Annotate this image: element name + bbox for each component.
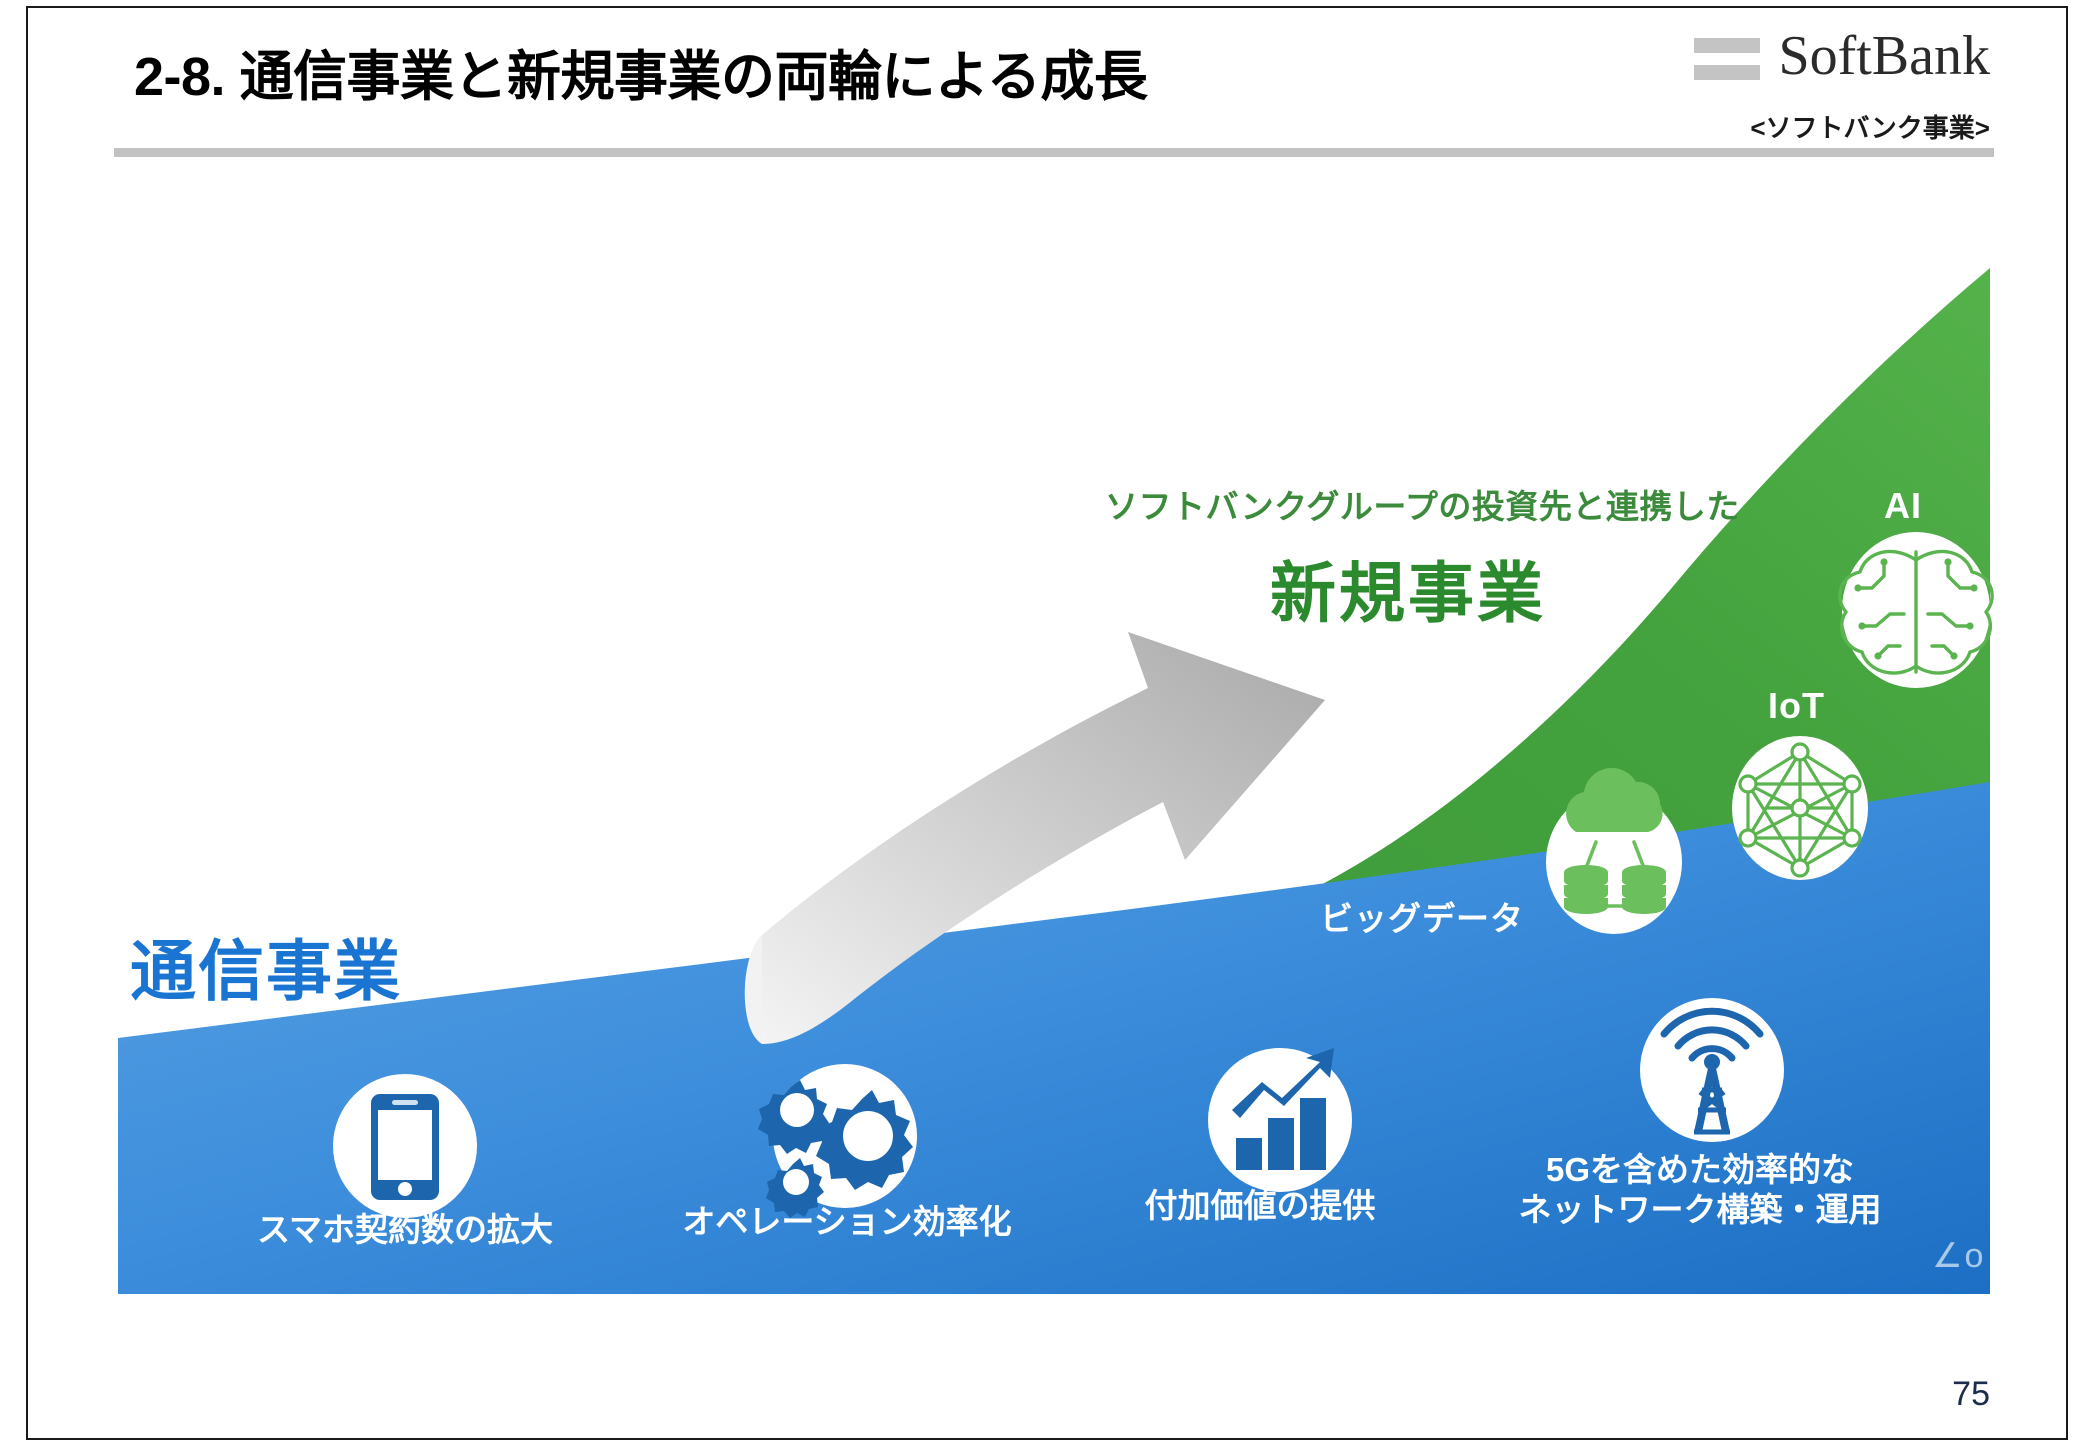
new-business-subtitle: ソフトバンクグループの投資先と連携した (1105, 480, 1740, 528)
corner-watermark: ∠o (1932, 1236, 1985, 1276)
slide-canvas: 2-8. 通信事業と新規事業の両輪による成長 SoftBank <ソフトバンク事… (0, 0, 2098, 1454)
pillar-label-network-line2: ネットワーク構築・運用 (1490, 1190, 1910, 1230)
antenna-icon-badge (1640, 998, 1784, 1142)
iot-icon-badge (1732, 736, 1868, 880)
tag-label-ai: AI (1884, 485, 1922, 527)
telecom-section-title: 通信事業 (130, 918, 402, 1014)
pillar-label-network-line1: 5Gを含めた効率的な (1490, 1150, 1910, 1190)
new-business-title: 新規事業 (1270, 540, 1546, 636)
growth-chart-icon-badge (1208, 1048, 1352, 1192)
pillar-label-network: 5Gを含めた効率的な ネットワーク構築・運用 (1490, 1150, 1910, 1231)
pillar-label-value: 付加価値の提供 (1110, 1186, 1410, 1226)
tag-label-bigdata: ビッグデータ (1320, 892, 1524, 940)
tag-label-iot: IoT (1768, 685, 1825, 727)
smartphone-icon-badge (333, 1074, 477, 1218)
page-number: 75 (1952, 1375, 1990, 1414)
pillar-label-smartphone: スマホ契約数の拡大 (245, 1210, 565, 1250)
pillar-label-operations: オペレーション効率化 (672, 1202, 1022, 1242)
